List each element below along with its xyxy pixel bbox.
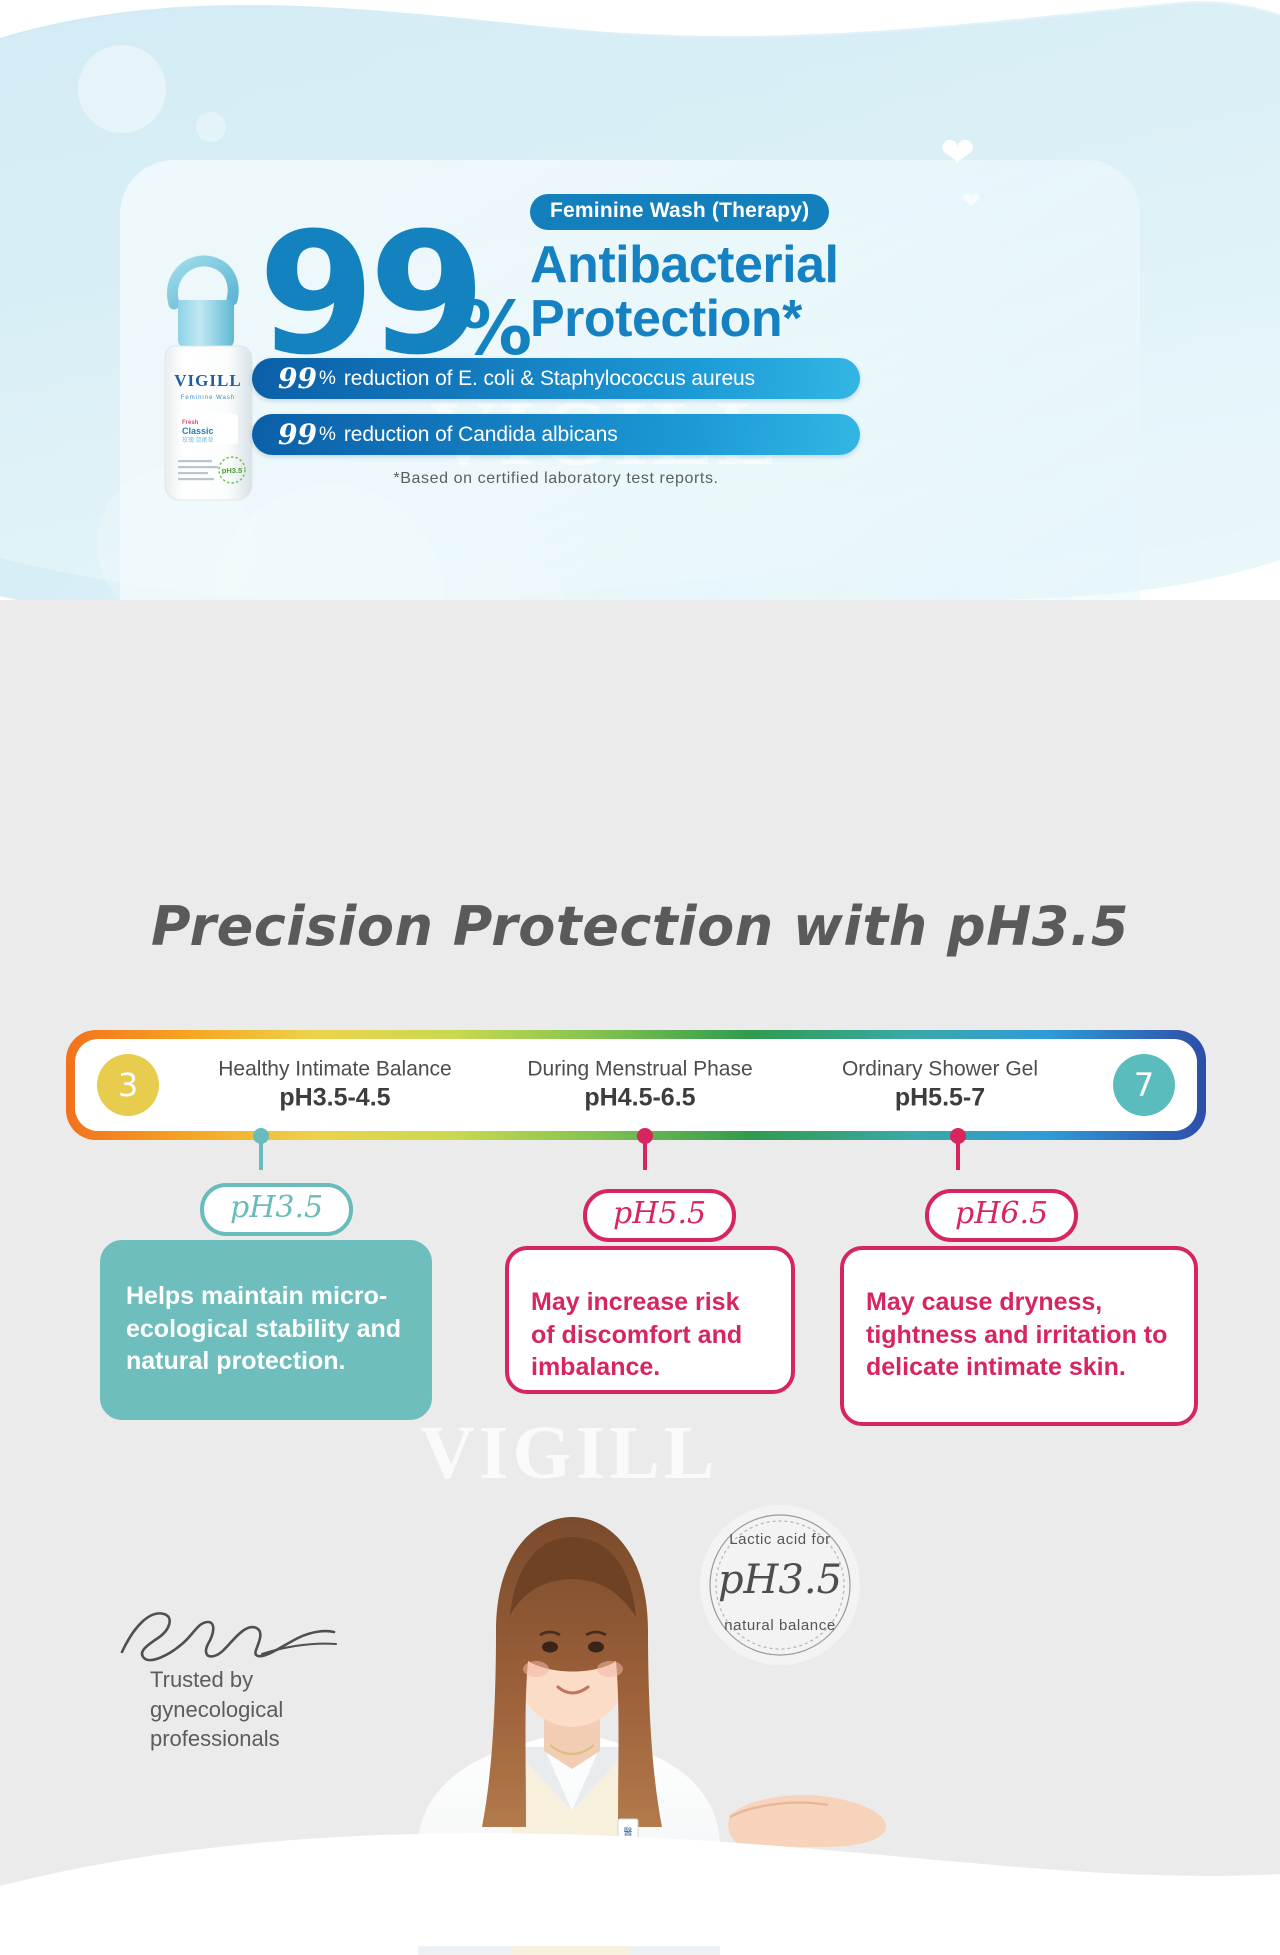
ph-scale-inner: 3 7 Healthy Intimate Balance pH3.5-4.5 D… (75, 1039, 1197, 1131)
product-type-tag: Feminine Wash (Therapy) (530, 194, 829, 230)
percent-sign: % (458, 292, 532, 366)
scale-label: Ordinary Shower Gel (795, 1056, 1085, 1082)
scale-column-healthy: Healthy Intimate Balance pH3.5-4.5 (185, 1056, 485, 1114)
claim-number: 99 (278, 365, 317, 393)
pin-stem (643, 1136, 647, 1170)
decorative-bubble-small (196, 112, 226, 142)
scale-label: Healthy Intimate Balance (185, 1056, 485, 1082)
claim-text: reduction of Candida albicans (344, 423, 618, 447)
claim-number: 99 (278, 421, 317, 449)
ph-scale-bar: 3 7 Healthy Intimate Balance pH3.5-4.5 D… (66, 1030, 1206, 1140)
ph-seal-badge: Lactic acid for pH3.5 natural balance (700, 1505, 860, 1665)
ph-pill-65: pH6.5 (925, 1189, 1078, 1242)
scale-value: pH3.5-4.5 (185, 1083, 485, 1114)
info-box-ph65: May cause dryness, tightness and irritat… (840, 1246, 1198, 1426)
scale-value: pH5.5-7 (795, 1083, 1085, 1114)
scale-column-shower-gel: Ordinary Shower Gel pH5.5-7 (795, 1056, 1085, 1114)
hero-headline: Antibacterial Protection* (530, 238, 1130, 346)
svg-text:玫瑰 鼠尾草: 玫瑰 鼠尾草 (182, 436, 214, 444)
ph-pill-55: pH5.5 (583, 1189, 736, 1242)
bottom-wave-decoration (0, 1816, 1280, 1946)
claim-percent-sign: % (319, 368, 336, 390)
headline-line-1: Antibacterial (530, 238, 1130, 292)
scale-label: During Menstrual Phase (495, 1056, 785, 1082)
scale-badge-left: 3 (97, 1054, 159, 1116)
info-box-ph35: Helps maintain micro-ecological stabilit… (100, 1240, 432, 1420)
info-box-ph55: May increase risk of discomfort and imba… (505, 1246, 795, 1394)
svg-text:VIGILL: VIGILL (174, 371, 241, 390)
svg-text:Classic: Classic (182, 426, 214, 436)
scale-value: pH4.5-6.5 (495, 1083, 785, 1114)
claim-bar-candida: 99 % reduction of Candida albicans (252, 414, 860, 455)
scale-column-menstrual: During Menstrual Phase pH4.5-6.5 (495, 1056, 785, 1114)
signature-mark (112, 1600, 342, 1670)
section-title: Precision Protection with pH3.5 (0, 895, 1280, 958)
scale-badge-right: 7 (1113, 1054, 1175, 1116)
ph-pill-35: pH3.5 (200, 1183, 353, 1236)
pin-stem (956, 1136, 960, 1170)
decorative-bubble-large (78, 45, 166, 133)
hero-footnote: *Based on certified laboratory test repo… (252, 470, 860, 488)
trusted-by-text: Trusted by gynecological professionals (150, 1665, 360, 1754)
seal-top-text: Lactic acid for (700, 1531, 860, 1548)
headline-line-2: Protection* (530, 292, 1130, 346)
pin-stem (259, 1136, 263, 1170)
percent-block: 99 % (258, 238, 518, 378)
claim-bar-ecoli: 99 % reduction of E. coli & Staphylococc… (252, 358, 860, 399)
svg-text:pH3.5: pH3.5 (222, 466, 242, 475)
claim-percent-sign: % (319, 424, 336, 446)
svg-text:Feminine Wash: Feminine Wash (181, 395, 235, 401)
seal-bottom-text: natural balance (700, 1617, 860, 1634)
percent-number: 99 (258, 210, 480, 378)
claim-text: reduction of E. coli & Staphylococcus au… (344, 367, 755, 391)
seal-center-text: pH3.5 (700, 1557, 860, 1603)
